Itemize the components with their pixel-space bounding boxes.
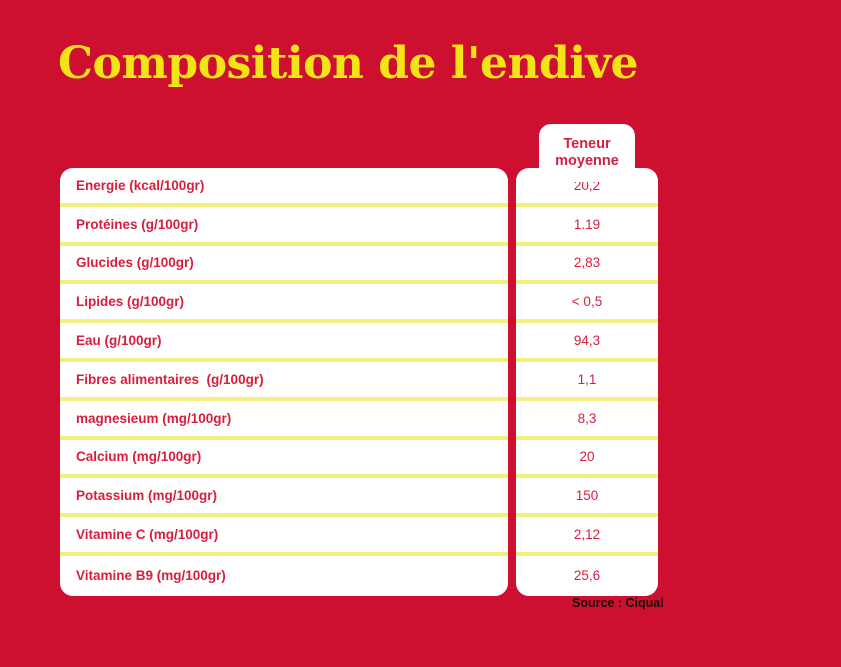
page-title: Composition de l'endive: [58, 38, 638, 89]
nutrient-value: 2,83: [574, 255, 600, 270]
table-row: Fibres alimentaires (g/100gr): [60, 362, 508, 401]
table-row: Lipides (g/100gr): [60, 284, 508, 323]
nutrient-value: 8,3: [578, 411, 597, 426]
nutrient-label: Energie (kcal/100gr): [76, 178, 204, 193]
table-row: Glucides (g/100gr): [60, 246, 508, 285]
nutrient-value-card: 20,21.192,83< 0,594,31,18,3201502,1225,6: [516, 168, 658, 596]
nutrient-value: < 0,5: [572, 294, 602, 309]
table-row: 1.19: [516, 207, 658, 246]
nutrient-label: Glucides (g/100gr): [76, 255, 194, 270]
nutrient-label: Vitamine C (mg/100gr): [76, 527, 218, 542]
table-row: Calcium (mg/100gr): [60, 440, 508, 479]
value-column-header: Teneur moyenne: [539, 124, 635, 182]
nutrient-label-card: Energie (kcal/100gr)Protéines (g/100gr)G…: [60, 168, 508, 596]
table-row: < 0,5: [516, 284, 658, 323]
table-row: 20: [516, 440, 658, 479]
nutrient-value: 2,12: [574, 527, 600, 542]
nutrient-value: 20: [579, 449, 594, 464]
table-row: Vitamine B9 (mg/100gr): [60, 556, 508, 596]
nutrient-label: Lipides (g/100gr): [76, 294, 184, 309]
table-row: magnesieum (mg/100gr): [60, 401, 508, 440]
value-column-header-line1: Teneur: [563, 136, 610, 153]
nutrient-value: 25,6: [574, 568, 600, 583]
nutrient-label: magnesieum (mg/100gr): [76, 411, 231, 426]
nutrient-value: 150: [576, 488, 599, 503]
table-row: Energie (kcal/100gr): [60, 168, 508, 207]
nutrient-label: Calcium (mg/100gr): [76, 449, 201, 464]
nutrient-label: Vitamine B9 (mg/100gr): [76, 568, 226, 583]
table-row: 1,1: [516, 362, 658, 401]
value-column-header-line2: moyenne: [555, 153, 619, 170]
table-row: 8,3: [516, 401, 658, 440]
nutrient-label: Protéines (g/100gr): [76, 217, 198, 232]
table-row: Vitamine C (mg/100gr): [60, 517, 508, 556]
table-row: Potassium (mg/100gr): [60, 478, 508, 517]
table-row: 2,83: [516, 246, 658, 285]
table-row: 94,3: [516, 323, 658, 362]
table-row: Protéines (g/100gr): [60, 207, 508, 246]
nutrient-value: 94,3: [574, 333, 600, 348]
nutrient-label: Eau (g/100gr): [76, 333, 162, 348]
table-row: 2,12: [516, 517, 658, 556]
table-row: Eau (g/100gr): [60, 323, 508, 362]
nutrient-label: Fibres alimentaires (g/100gr): [76, 372, 264, 387]
table-row: 25,6: [516, 556, 658, 596]
source-note: Source : Ciqual: [572, 596, 664, 610]
nutrient-label: Potassium (mg/100gr): [76, 488, 217, 503]
nutrient-value: 1.19: [574, 217, 600, 232]
nutrient-value: 1,1: [578, 372, 597, 387]
table-row: 150: [516, 478, 658, 517]
